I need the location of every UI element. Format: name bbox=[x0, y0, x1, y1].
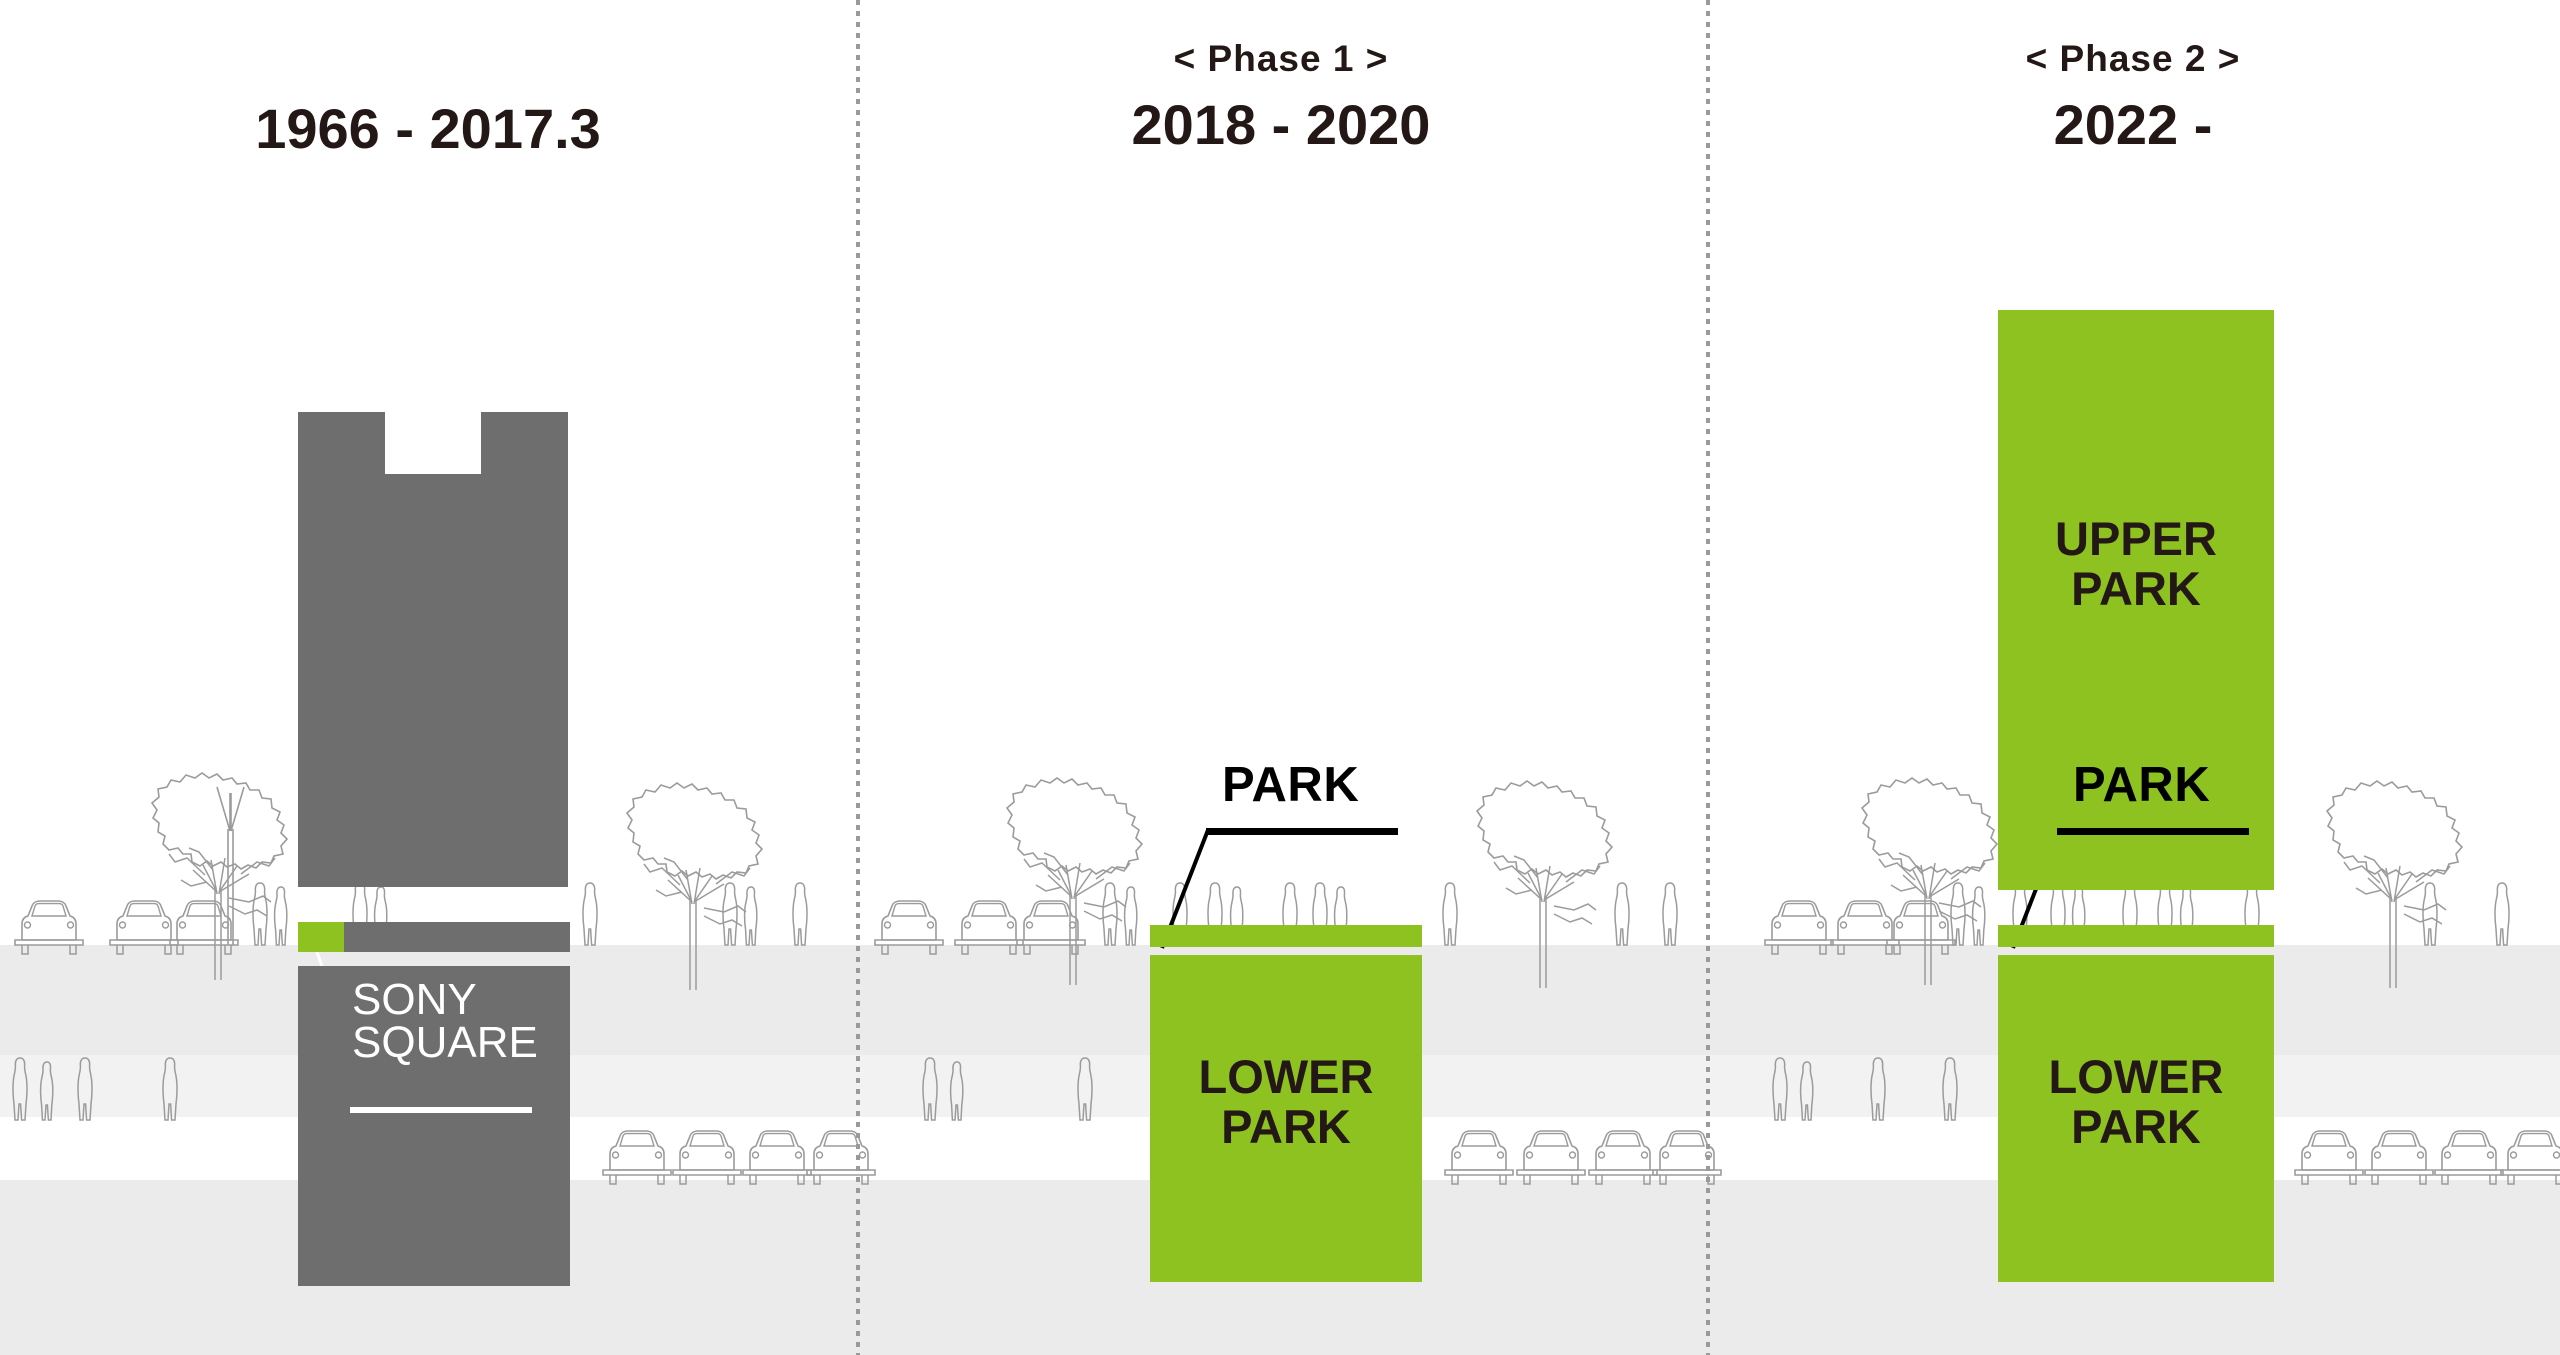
diagram-canvas: 1966 - 2017.3 SONY SQUARE < Phase 1 > 20… bbox=[0, 0, 2560, 1355]
panel3-lower-park-line2: PARK bbox=[1998, 1102, 2274, 1152]
sony-square-label-line1: SONY bbox=[352, 978, 582, 1021]
panel2-lower-park-label: LOWER PARK bbox=[1150, 1052, 1422, 1152]
panel2-lower-park-line2: PARK bbox=[1150, 1102, 1422, 1152]
sony-square-label-line2: SQUARE bbox=[352, 1021, 582, 1064]
panel-divider-1 bbox=[856, 0, 860, 1355]
panel3-upper-park-block-top bbox=[1998, 310, 2274, 545]
panel3-lower-park-label: LOWER PARK bbox=[1998, 1052, 2274, 1152]
panel2-lower-park-line1: LOWER bbox=[1150, 1052, 1422, 1102]
sony-square-label: SONY SQUARE bbox=[352, 978, 582, 1064]
panel3-upper-park-label: UPPER PARK bbox=[1998, 514, 2274, 614]
panel2-phase-label: < Phase 1 > bbox=[856, 38, 1706, 80]
sony-square-tower bbox=[298, 412, 568, 887]
panel3-upper-park-line2: PARK bbox=[1998, 564, 2274, 614]
panel3-lower-park-line1: LOWER bbox=[1998, 1052, 2274, 1102]
panel3-park-callout: PARK bbox=[2073, 757, 2210, 813]
panel2-year-label: 2018 - 2020 bbox=[856, 92, 1706, 157]
panel3-park-callout-rule bbox=[2057, 828, 2249, 835]
panel-divider-2 bbox=[1706, 0, 1710, 1355]
sony-square-green-chip bbox=[298, 922, 344, 952]
sony-square-roof-notch bbox=[385, 412, 481, 474]
panel2-ground-green-strip bbox=[1150, 925, 1422, 947]
panel3-year-label: 2022 - bbox=[1706, 92, 2560, 157]
panel3-phase-label: < Phase 2 > bbox=[1706, 38, 2560, 80]
sony-square-underline bbox=[350, 1107, 532, 1113]
panel2-park-callout: PARK bbox=[1222, 757, 1359, 813]
panel2-park-callout-rule bbox=[1206, 828, 1398, 835]
panel3-ground-green-strip bbox=[1998, 925, 2274, 947]
panel1-year-label: 1966 - 2017.3 bbox=[0, 96, 856, 161]
panel3-upper-park-line1: UPPER bbox=[1998, 514, 2274, 564]
